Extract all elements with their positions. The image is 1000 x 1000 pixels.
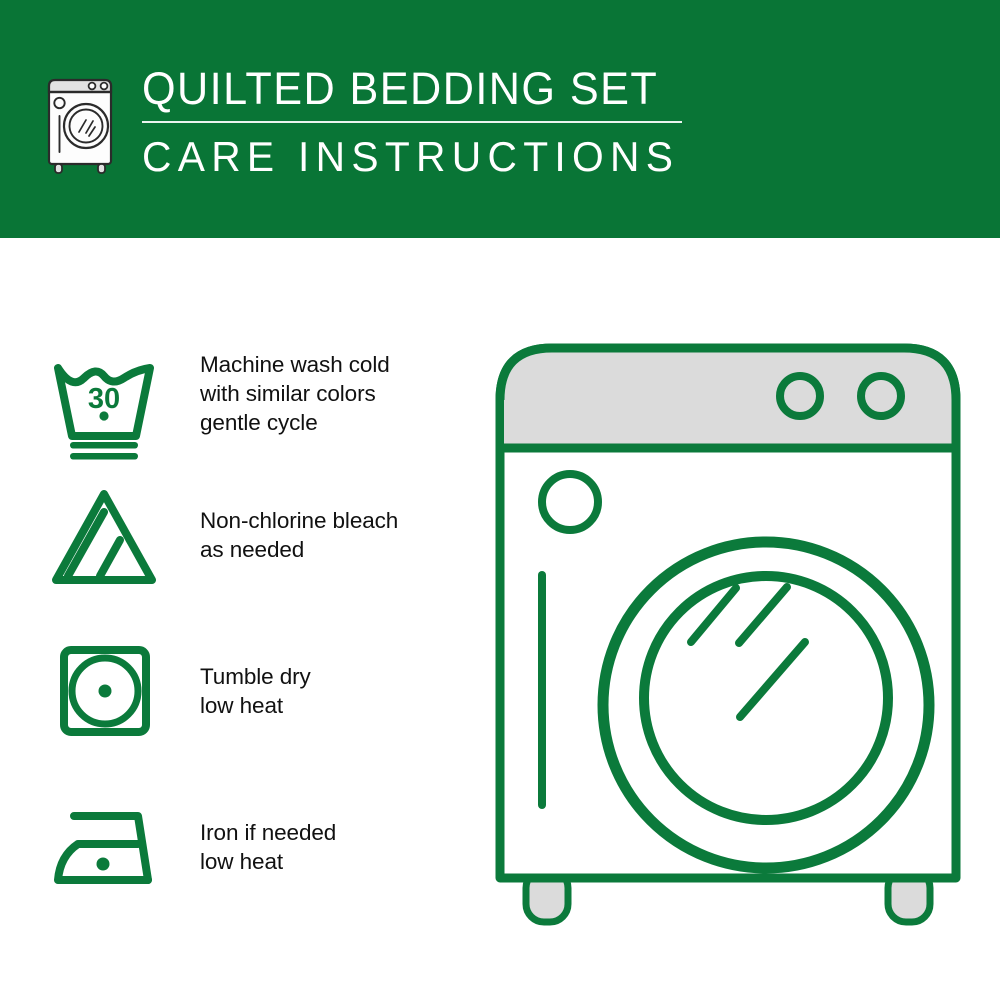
care-instructions-infographic: QUILTED BEDDING SET CARE INSTRUCTIONS 30 [0,0,1000,1000]
care-line: low heat [200,847,485,876]
washer-knob-right [861,376,901,416]
care-text-bleach: Non-chlorine bleach as needed [200,506,485,564]
care-instructions-list: 30 Machine wash cold with similar colors… [0,238,500,1000]
wash-temperature-label: 30 [88,383,120,415]
care-line: Machine wash cold [200,350,485,379]
care-line: Iron if needed [200,818,485,847]
care-row-bleach: Non-chlorine bleach as needed [0,484,500,634]
care-line: low heat [200,691,485,720]
care-text-machine-wash: Machine wash cold with similar colors ge… [200,350,485,437]
triangle-non-chlorine-bleach-icon [48,484,160,596]
washing-machine-illustration [488,330,978,930]
care-row-tumble-dry: Tumble dry low heat [0,644,500,794]
page-title: QUILTED BEDDING SET [142,64,718,114]
title-divider [142,121,682,123]
care-line: as needed [200,535,485,564]
care-text-iron: Iron if needed low heat [200,818,485,876]
page-subtitle: CARE INSTRUCTIONS [142,134,724,180]
care-line: gentle cycle [200,408,485,437]
washing-machine-icon [44,68,120,176]
washer-indicator-light [542,474,598,530]
care-text-tumble-dry: Tumble dry low heat [200,662,485,720]
tumble-dry-low-heat-icon [58,644,152,738]
care-line: with similar colors [200,379,485,408]
wash-tub-30-gentle-icon: 30 [48,350,160,462]
header-banner: QUILTED BEDDING SET CARE INSTRUCTIONS [0,0,1000,238]
care-row-machine-wash: 30 Machine wash cold with similar colors… [0,350,500,500]
care-line: Tumble dry [200,662,485,691]
washer-knob-left [780,376,820,416]
header-text-block: QUILTED BEDDING SET CARE INSTRUCTIONS [142,64,742,180]
care-line: Non-chlorine bleach [200,506,485,535]
iron-low-heat-icon [52,804,160,892]
care-row-iron: Iron if needed low heat [0,796,500,946]
